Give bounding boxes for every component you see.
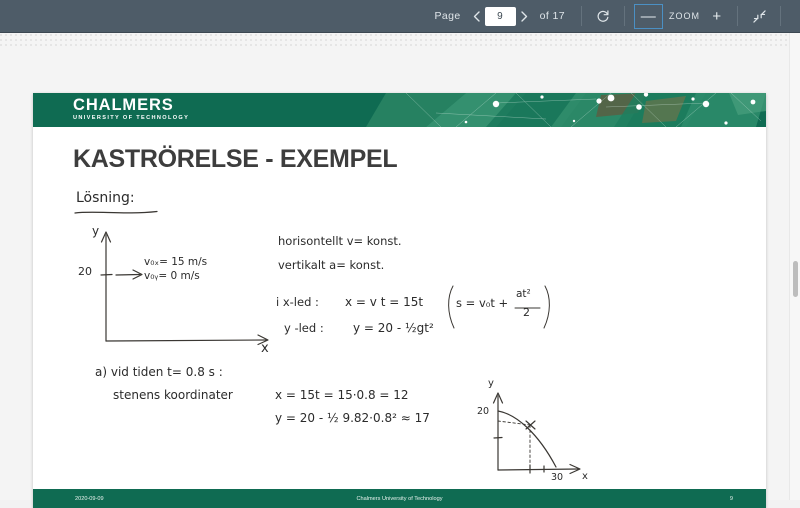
page-number-input[interactable]: 9: [485, 7, 516, 26]
hw-x-led-label: i x-led :: [276, 295, 319, 309]
toolbar-divider-3: [737, 6, 738, 26]
chalmers-logo: CHALMERS UNIVERSITY OF TECHNOLOGY: [73, 97, 189, 123]
page-label: Page: [428, 10, 468, 22]
page-total-label: of 17: [533, 10, 572, 22]
hw-x-led-equation: x = v t = 15t: [345, 295, 423, 309]
hw-part-a-sub: stenens koordinater: [113, 388, 233, 402]
collapse-fullscreen-icon: [753, 10, 766, 23]
hw-part-a: a) vid tiden t= 0.8 s :: [95, 365, 223, 379]
slide-header-banner: CHALMERS UNIVERSITY OF TECHNOLOGY: [33, 93, 766, 127]
hw-axis-y-label: y: [92, 224, 99, 238]
slide-footer: 2020-09-09 Chalmers University of Techno…: [33, 489, 766, 508]
texture-band: [0, 34, 800, 48]
polygon-decoration: [346, 93, 766, 127]
hw-main-axes: [88, 223, 283, 348]
previous-page-button[interactable]: [468, 6, 485, 26]
hw-formula-numerator: at²: [516, 288, 531, 300]
hw-calc-x: x = 15t = 15·0.8 = 12: [275, 388, 409, 402]
rotate-button[interactable]: [591, 4, 615, 28]
fullscreen-toggle-button[interactable]: [747, 4, 771, 28]
toolbar-divider-2: [624, 6, 625, 26]
hw-calc-y: y = 20 - ½ 9.82·0.8² ≈ 17: [275, 411, 430, 425]
hw-mini-x-tick: 30: [551, 472, 563, 483]
hw-vertical-statement: vertikalt a= konst.: [278, 258, 384, 272]
toolbar-divider: [581, 6, 582, 26]
hw-heading-underline: [73, 209, 163, 217]
hw-axis-x-label: x: [261, 341, 269, 356]
footer-organization: Chalmers University of Technology: [33, 496, 766, 502]
hw-v0y: v₀ᵧ= 0 m/s: [144, 270, 200, 282]
logo-name: CHALMERS: [73, 97, 189, 114]
page-nav-group: Page 9 of 17: [428, 0, 572, 33]
hw-formula-denominator: 2: [523, 306, 530, 319]
hw-y-led-equation: y = 20 - ½gt²: [353, 321, 434, 335]
rotate-icon: [596, 9, 610, 23]
zoom-in-button[interactable]: +: [706, 4, 728, 28]
plus-icon: +: [712, 9, 721, 24]
hw-mini-x-label: x: [582, 471, 588, 482]
hw-formula-lead: s = v₀t +: [456, 296, 508, 310]
vertical-scrollbar[interactable]: [789, 33, 800, 500]
document-workspace: CHALMERS UNIVERSITY OF TECHNOLOGY KASTRÖ…: [0, 33, 800, 500]
toolbar-divider-4: [780, 6, 781, 26]
hw-v0x: v₀ₓ= 15 m/s: [144, 256, 207, 268]
scrollbar-thumb[interactable]: [793, 261, 798, 297]
hw-axis-y-tick-label: 20: [78, 265, 92, 278]
hw-heading: Lösning:: [76, 190, 135, 206]
hw-horizontal-statement: horisontellt v= konst.: [278, 234, 402, 248]
hw-trajectory-sketch: [478, 378, 598, 483]
hw-y-led-label: y -led :: [284, 321, 324, 335]
next-page-button[interactable]: [516, 6, 533, 26]
zoom-label: ZOOM: [663, 11, 706, 21]
zoom-out-button[interactable]: —: [634, 4, 663, 29]
chevron-right-icon: [521, 11, 528, 22]
hw-mini-y-tick: 20: [477, 406, 489, 417]
viewer-toolbar: Page 9 of 17 — ZOOM +: [0, 0, 800, 33]
footer-page-number: 9: [730, 496, 733, 502]
slide-page: CHALMERS UNIVERSITY OF TECHNOLOGY KASTRÖ…: [33, 93, 766, 508]
minus-icon: —: [641, 9, 656, 24]
chevron-left-icon: [473, 11, 480, 22]
logo-tagline: UNIVERSITY OF TECHNOLOGY: [73, 114, 189, 123]
slide-title: KASTRÖRELSE - EXEMPEL: [73, 145, 397, 174]
hw-mini-y-label: y: [488, 378, 494, 389]
